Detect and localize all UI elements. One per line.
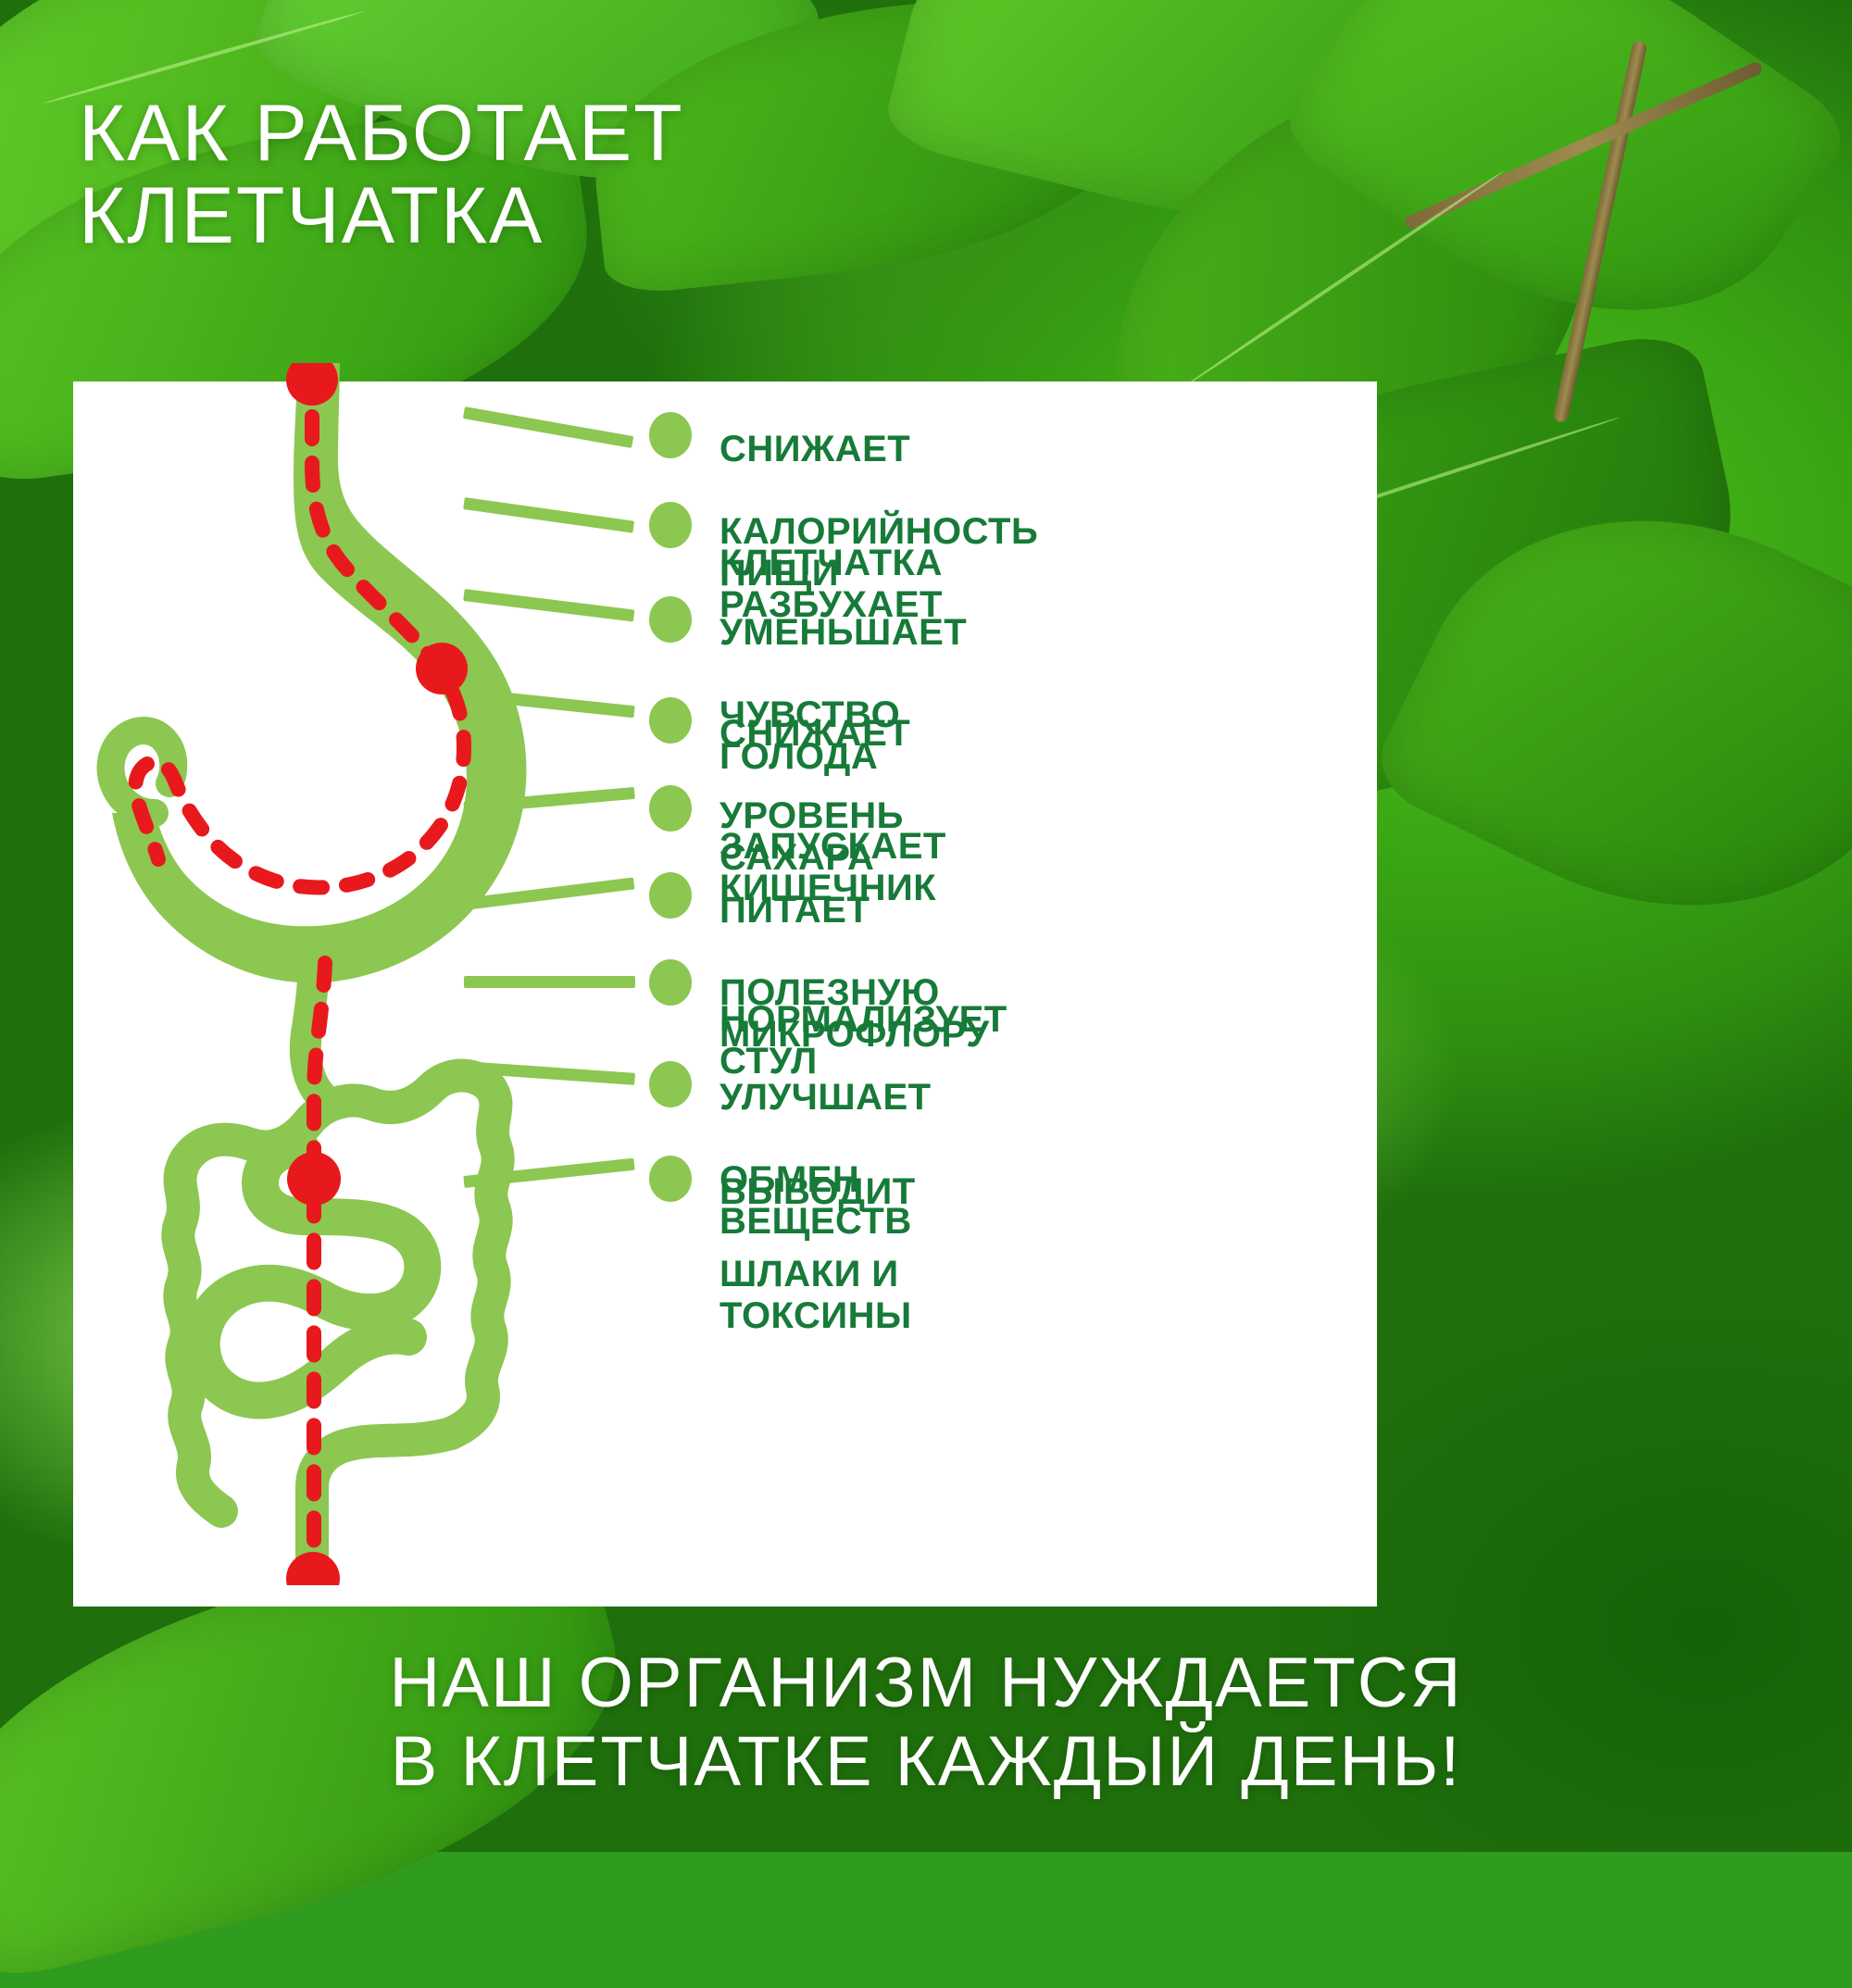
- benefit-line-1: ВЫВОДИТ: [720, 1171, 916, 1213]
- marker-intestine-dot: [287, 1152, 341, 1206]
- benefit-line-1: УМЕНЬШАЕТ: [720, 612, 967, 654]
- bullet-dot: [649, 502, 692, 548]
- title-line-2: КЛЕТЧАТКА: [79, 175, 1097, 257]
- infographic-poster: КАК РАБОТАЕТ КЛЕТЧАТКА: [0, 0, 1852, 1852]
- bottom-banner: НАШ ОРГАНИЗМ НУЖДАЕТСЯ В КЛЕТЧАТКЕ КАЖДЫ…: [0, 1644, 1852, 1819]
- connector-line: [463, 878, 634, 910]
- benefit-line-1: ПИТАЕТ: [720, 890, 990, 931]
- benefit-line-2: ШЛАКИ И ТОКСИНЫ: [720, 1254, 916, 1337]
- connector-line: [463, 688, 634, 718]
- bullet-dot: [649, 872, 692, 919]
- connector-line: [464, 976, 635, 988]
- bullet-dot: [649, 785, 692, 831]
- bullet-dot: [649, 1061, 692, 1107]
- connector-line: [463, 787, 634, 814]
- bullet-dot: [649, 596, 692, 643]
- bullet-dot: [649, 1156, 692, 1202]
- connector-line: [464, 1061, 635, 1085]
- small-and-large-intestine-shape: [178, 956, 497, 1585]
- bullet-dot: [649, 412, 692, 458]
- benefit-line-1: СНИЖАЕТ: [720, 429, 1038, 470]
- benefit-label: ВЫВОДИТ ШЛАКИ И ТОКСИНЫ: [720, 1130, 916, 1379]
- marker-stomach-dot: [416, 643, 468, 694]
- title-line-1: КАК РАБОТАЕТ: [79, 93, 1097, 175]
- page-title: КАК РАБОТАЕТ КЛЕТЧАТКА: [79, 93, 1097, 256]
- content-card: СНИЖАЕТ КАЛОРИЙНОСТЬ ПИЩИ КЛЕТЧАТКА РАЗБ…: [73, 381, 1377, 1607]
- benefit-line-1: СНИЖАЕТ: [720, 713, 910, 755]
- marker-exit-dot: [286, 1552, 340, 1585]
- bullet-dot: [649, 959, 692, 1006]
- connector-line: [463, 1158, 634, 1188]
- banner-line-2: В КЛЕТЧАТКЕ КАЖДЫЙ ДЕНЬ!: [0, 1722, 1852, 1801]
- bullet-dot: [649, 697, 692, 744]
- connector-line: [463, 406, 633, 448]
- benefit-line-1: УЛУЧШАЕТ: [720, 1077, 932, 1119]
- banner-line-1: НАШ ОРГАНИЗМ НУЖДАЕТСЯ: [0, 1644, 1852, 1722]
- benefits-list: СНИЖАЕТ КАЛОРИЙНОСТЬ ПИЩИ КЛЕТЧАТКА РАЗБ…: [471, 381, 1379, 1607]
- connector-line: [463, 497, 634, 533]
- connector-line: [463, 589, 634, 621]
